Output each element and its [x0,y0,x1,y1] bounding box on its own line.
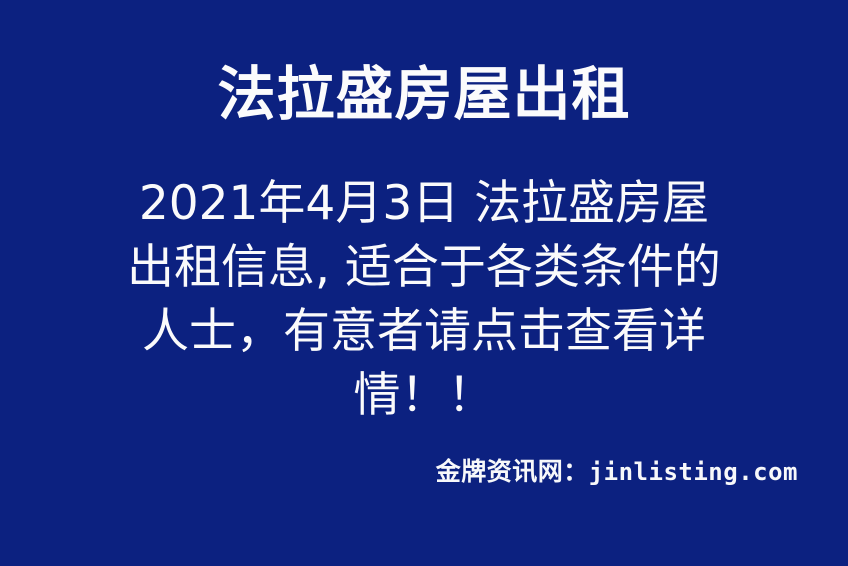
body-line-2: 出租信息, 适合于各类条件的 [84,236,764,300]
body-paragraph: 2021年4月3日 法拉盛房屋 出租信息, 适合于各类条件的 人士，有意者请点击… [84,172,764,428]
footer-credit: 金牌资讯网：jinlisting.com [0,452,798,488]
footer-brand-label: 金牌资讯网： [436,457,589,486]
promo-banner: 法拉盛房屋出租 2021年4月3日 法拉盛房屋 出租信息, 适合于各类条件的 人… [0,0,848,566]
body-line-1: 2021年4月3日 法拉盛房屋 [84,172,764,236]
body-line-4: 情！！ [84,364,764,428]
body-line-3: 人士，有意者请点击查看详 [84,300,764,364]
footer-website-url[interactable]: jinlisting.com [589,458,798,486]
page-title: 法拉盛房屋出租 [0,57,848,131]
